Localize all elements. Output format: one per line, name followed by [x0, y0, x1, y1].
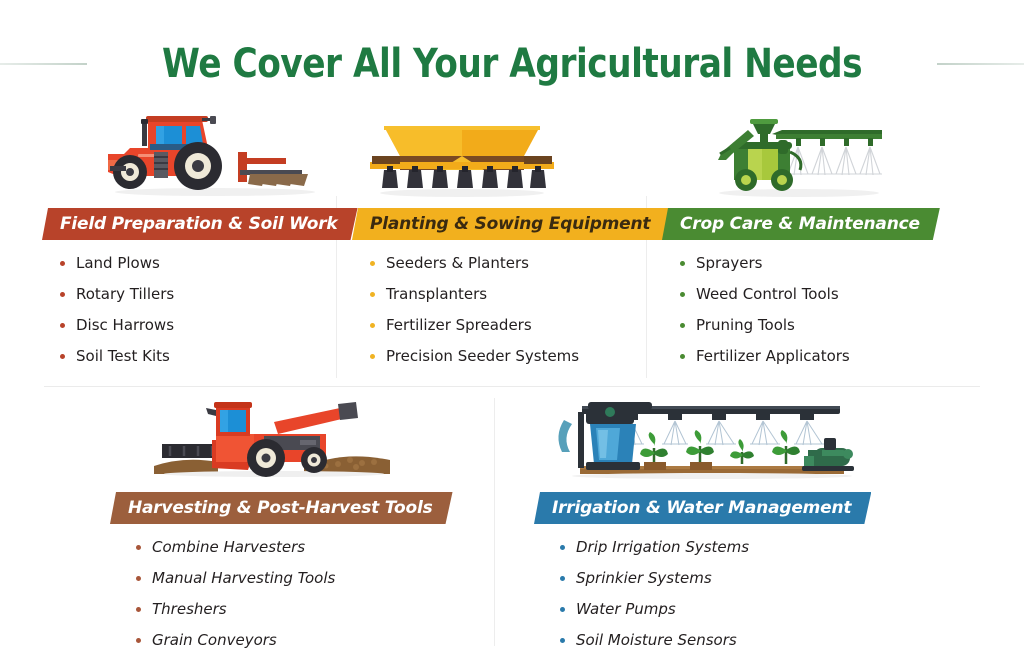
list-item: Precision Seeder Systems: [370, 347, 648, 365]
list-item: Soil Test Kits: [60, 347, 338, 365]
list-item: Rotary Tillers: [60, 285, 338, 303]
list-item: Transplanters: [370, 285, 648, 303]
crop-sprayer-icon: [662, 108, 962, 200]
banner-field-preparation: Field Preparation & Soil Work: [42, 208, 358, 240]
banner-irrigation: Irrigation & Water Management: [534, 492, 871, 524]
drip-irrigation-icon: [534, 392, 894, 484]
list-item: Seeders & Planters: [370, 254, 648, 272]
combine-harvester-icon: [110, 392, 450, 484]
list-item: Weed Control Tools: [680, 285, 962, 303]
list-item: Sprinkier Systems: [560, 569, 894, 587]
seed-drill-icon: [352, 108, 648, 200]
list-item: Sprayers: [680, 254, 962, 272]
list-item: Grain Conveyors: [136, 631, 450, 649]
list-item: Fertilizer Spreaders: [370, 316, 648, 334]
title-rule-left-icon: [0, 63, 87, 65]
list-crop-care: Sprayers Weed Control Tools Pruning Tool…: [662, 254, 962, 365]
banner-planting-sowing: Planting & Sowing Equipment: [352, 208, 670, 240]
list-item: Water Pumps: [560, 600, 894, 618]
infographic-page: We Cover All Your Agricultural Needs: [0, 0, 1024, 670]
banner-crop-care: Crop Care & Maintenance: [662, 208, 940, 240]
list-item: Disc Harrows: [60, 316, 338, 334]
list-item: Land Plows: [60, 254, 338, 272]
category-irrigation: Irrigation & Water Management Drip Irrig…: [534, 392, 894, 662]
category-harvesting: Harvesting & Post-Harvest Tools Combine …: [110, 392, 450, 662]
tractor-with-plow-icon: [42, 108, 338, 200]
list-field-preparation: Land Plows Rotary Tillers Disc Harrows S…: [42, 254, 338, 365]
list-item: Soil Moisture Sensors: [560, 631, 894, 649]
list-item: Drip Irrigation Systems: [560, 538, 894, 556]
row-divider: [44, 386, 980, 387]
title-rule-right-icon: [937, 63, 1024, 65]
banner-harvesting: Harvesting & Post-Harvest Tools: [110, 492, 453, 524]
list-item: Combine Harvesters: [136, 538, 450, 556]
category-crop-care: Crop Care & Maintenance Sprayers Weed Co…: [662, 108, 962, 378]
list-item: Fertilizer Applicators: [680, 347, 962, 365]
list-item: Threshers: [136, 600, 450, 618]
page-header: We Cover All Your Agricultural Needs: [0, 38, 1024, 90]
column-divider-3: [494, 398, 495, 646]
category-planting-sowing: Planting & Sowing Equipment Seeders & Pl…: [352, 108, 648, 378]
list-irrigation: Drip Irrigation Systems Sprinkier System…: [534, 538, 894, 649]
list-planting-sowing: Seeders & Planters Transplanters Fertili…: [352, 254, 648, 365]
category-field-preparation: Field Preparation & Soil Work Land Plows…: [42, 108, 338, 378]
list-item: Manual Harvesting Tools: [136, 569, 450, 587]
list-harvesting: Combine Harvesters Manual Harvesting Too…: [110, 538, 450, 649]
list-item: Pruning Tools: [680, 316, 962, 334]
page-title: We Cover All Your Agricultural Needs: [162, 42, 862, 86]
